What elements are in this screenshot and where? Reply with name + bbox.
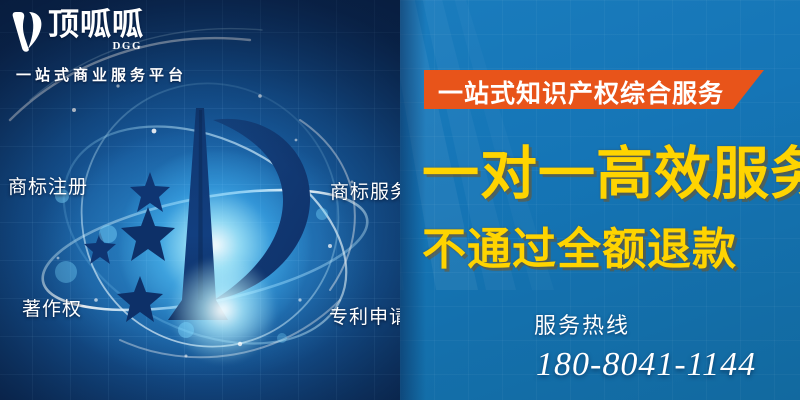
ribbon-banner: 一站式知识产权综合服务: [424, 70, 764, 109]
hotline-label: 服务热线: [534, 308, 630, 340]
service-tag-trademark-service: 商标服务: [330, 177, 410, 204]
headline-text: 一对一高效服务: [422, 144, 800, 204]
hotline-number: 180-8041-1144: [536, 346, 756, 384]
brand-tagline: 一站式商业服务平台: [16, 64, 187, 85]
brand-name-cn: 顶呱呱: [48, 8, 144, 42]
right-message-panel: 一站式知识产权综合服务 一对一高效服务 不通过全额退款 服务热线 180-804…: [400, 0, 800, 400]
brand-logo[interactable]: 顶呱呱 DGG 一站式商业服务平台: [10, 8, 190, 88]
service-tag-trademark-registration: 商标注册: [8, 172, 88, 199]
ribbon-label: 一站式知识产权综合服务: [438, 74, 724, 110]
dgg-ribbon-logo-icon: [10, 8, 44, 54]
service-tag-patent-application: 专利申请: [329, 302, 409, 329]
brand-name-en: DGG: [112, 40, 142, 52]
promotional-banner: 商标注册 著作权 商标服务 专利申请 一站式知识产权综合服务 一对一高效服务 不…: [0, 0, 800, 400]
subheadline-text: 不通过全额退款: [422, 226, 737, 274]
service-tag-copyright: 著作权: [22, 294, 82, 321]
